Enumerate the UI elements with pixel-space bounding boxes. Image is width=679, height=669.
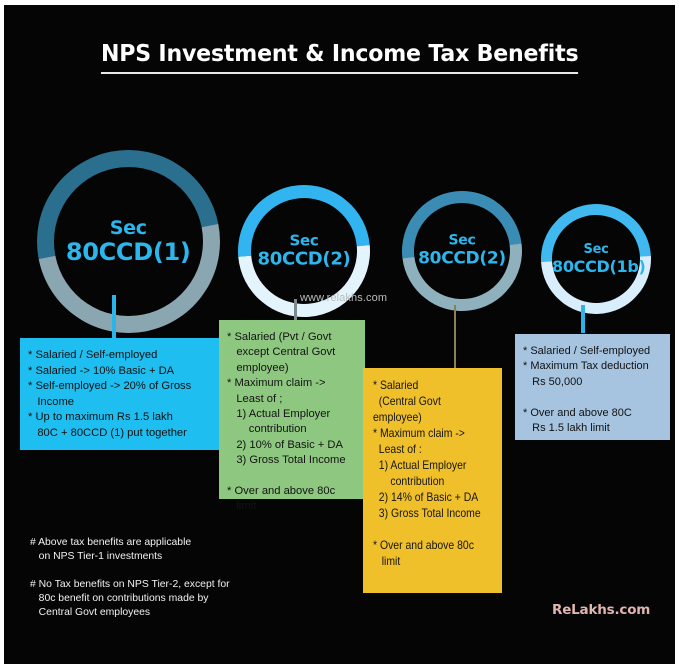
info-line: employee) bbox=[373, 410, 489, 426]
info-line: employee) bbox=[227, 361, 365, 376]
info-line: 1) Actual Employer bbox=[373, 458, 489, 474]
info-line: * Self-employed -> 20% of Gross bbox=[28, 379, 222, 395]
info-line: 80C + 80CCD (1) put together bbox=[28, 426, 222, 442]
connector-line-1 bbox=[112, 295, 116, 339]
info-line: * Salaried -> 10% Basic + DA bbox=[28, 364, 222, 380]
ring-label-line1: Sec bbox=[251, 233, 357, 250]
section-ring-80ccd1b: Sec 80CCD(1b) bbox=[518, 181, 673, 336]
ring-label-line2: 80CCD(2) bbox=[251, 249, 357, 269]
ring-label-80ccd2-govt: Sec 80CCD(2) bbox=[414, 234, 510, 269]
info-line: 2) 10% of Basic + DA bbox=[227, 438, 365, 453]
page-title: NPS Investment & Income Tax Benefits bbox=[101, 41, 579, 74]
info-line: * Maximum claim -> bbox=[373, 426, 489, 442]
infographic-canvas: NPS Investment & Income Tax Benefits Sec… bbox=[0, 0, 679, 669]
section-ring-80ccd2-private: Sec 80CCD(2) bbox=[211, 158, 397, 344]
ring-label-line1: Sec bbox=[552, 243, 640, 258]
info-line: * Salaried bbox=[373, 378, 489, 394]
brand-logo: ReLakhs.com bbox=[552, 602, 650, 618]
ring-label-line1: Sec bbox=[414, 234, 510, 250]
info-line: * Maximum claim -> bbox=[227, 376, 365, 391]
info-line bbox=[373, 522, 489, 538]
info-line: contribution bbox=[227, 422, 365, 437]
watermark-url: www.relakhs.com bbox=[300, 292, 387, 304]
info-line: limit bbox=[227, 499, 365, 514]
info-line: Income bbox=[28, 395, 222, 411]
info-line: contribution bbox=[373, 474, 489, 490]
info-line: Least of : bbox=[373, 442, 489, 458]
info-box-80ccd1b: * Salaried / Self-employed * Maximum Tax… bbox=[515, 334, 670, 440]
info-line: except Central Govt bbox=[227, 345, 365, 360]
info-box-80ccd1: * Salaried / Self-employed * Salaried ->… bbox=[20, 338, 222, 450]
ring-label-80ccd2-private: Sec 80CCD(2) bbox=[251, 233, 357, 270]
info-line: 1) Actual Employer bbox=[227, 407, 365, 422]
info-line: * Salaried / Self-employed bbox=[523, 344, 670, 359]
info-line: 2) 14% of Basic + DA bbox=[373, 490, 489, 506]
info-line: 3) Gross Total Income bbox=[373, 506, 489, 522]
footnotes: # Above tax benefits are applicable on N… bbox=[30, 536, 360, 620]
connector-line-3 bbox=[454, 305, 456, 369]
info-line: Least of ; bbox=[227, 392, 365, 407]
info-line: 3) Gross Total Income bbox=[227, 453, 365, 468]
info-line: * Over and above 80C bbox=[523, 406, 670, 421]
ring-label-line1: Sec bbox=[54, 217, 203, 238]
info-line: * Salaried / Self-employed bbox=[28, 348, 222, 364]
ring-label-line2: 80CCD(2) bbox=[414, 249, 510, 268]
connector-line-2 bbox=[294, 299, 297, 321]
ring-label-80ccd1b: Sec 80CCD(1b) bbox=[552, 243, 640, 275]
ring-label-80ccd1: Sec 80CCD(1) bbox=[54, 217, 203, 265]
info-line: * Up to maximum Rs 1.5 lakh bbox=[28, 410, 222, 426]
info-line: * Over and above 80c bbox=[373, 538, 489, 554]
footnote-tier2: # No Tax benefits on NPS Tier-2, except … bbox=[30, 578, 360, 620]
info-line bbox=[227, 469, 365, 484]
section-ring-80ccd1: Sec 80CCD(1) bbox=[4, 114, 256, 368]
info-box-80ccd2-private: * Salaried (Pvt / Govt except Central Go… bbox=[219, 320, 365, 499]
info-line: (Central Govt bbox=[373, 394, 489, 410]
footnote-tier1: # Above tax benefits are applicable on N… bbox=[30, 536, 360, 564]
ring-label-line2: 80CCD(1b) bbox=[552, 257, 640, 275]
infographic-stage: NPS Investment & Income Tax Benefits Sec… bbox=[4, 5, 675, 664]
info-line: * Over and above 80c bbox=[227, 484, 365, 499]
info-line: Rs 1.5 lakh limit bbox=[523, 421, 670, 436]
ring-label-line2: 80CCD(1) bbox=[54, 239, 203, 266]
info-line: * Salaried (Pvt / Govt bbox=[227, 330, 365, 345]
connector-line-4 bbox=[581, 305, 585, 333]
info-box-80ccd2-govt: * Salaried (Central Govt employee) * Max… bbox=[363, 368, 502, 593]
title-container: NPS Investment & Income Tax Benefits bbox=[4, 41, 675, 74]
info-line bbox=[523, 390, 670, 405]
section-ring-80ccd2-govt: Sec 80CCD(2) bbox=[378, 167, 546, 335]
info-line: Rs 50,000 bbox=[523, 375, 670, 390]
info-line: limit bbox=[373, 554, 489, 570]
info-line: * Maximum Tax deduction bbox=[523, 359, 670, 374]
